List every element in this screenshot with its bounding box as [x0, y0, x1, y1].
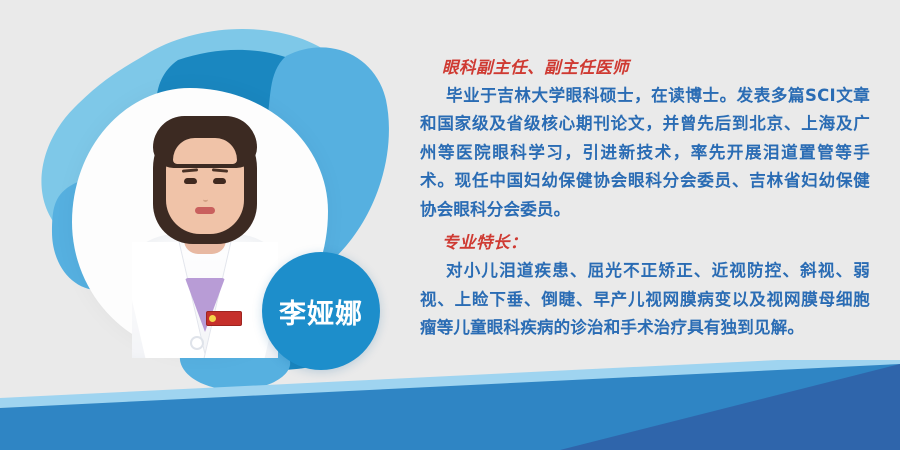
specialty-paragraph: 对小儿泪道疾患、屈光不正矫正、近视防控、斜视、弱视、上睑下垂、倒睫、早产儿视网膜… — [420, 257, 870, 343]
eye-left — [184, 178, 197, 184]
profile-text-column: 眼科副主任、副主任医师 毕业于吉林大学眼科硕士，在读博士。发表多篇SCI文章和国… — [420, 56, 870, 343]
hair-front — [153, 116, 257, 168]
mouth — [195, 207, 215, 214]
section-gap — [420, 224, 870, 231]
hospital-id-badge-icon — [206, 311, 242, 326]
band-medium-blue — [0, 364, 900, 450]
eye-right — [213, 178, 226, 184]
biography-paragraph: 毕业于吉林大学眼科硕士，在读博士。发表多篇SCI文章和国家级及省级核心期刊论文，… — [420, 82, 870, 225]
bottom-decorative-bands — [0, 360, 900, 450]
stethoscope-icon — [190, 336, 204, 350]
doctor-name-badge: 李娅娜 — [262, 252, 380, 370]
title-heading: 眼科副主任、副主任医师 — [442, 56, 870, 81]
band-dark-blue — [560, 364, 900, 450]
specialty-heading: 专业特长： — [442, 231, 870, 256]
nose — [203, 192, 208, 202]
doctor-portrait — [132, 108, 278, 358]
doctor-profile-poster: 李娅娜 眼科副主任、副主任医师 毕业于吉林大学眼科硕士，在读博士。发表多篇SCI… — [0, 0, 900, 450]
doctor-name-label: 李娅娜 — [279, 292, 363, 331]
